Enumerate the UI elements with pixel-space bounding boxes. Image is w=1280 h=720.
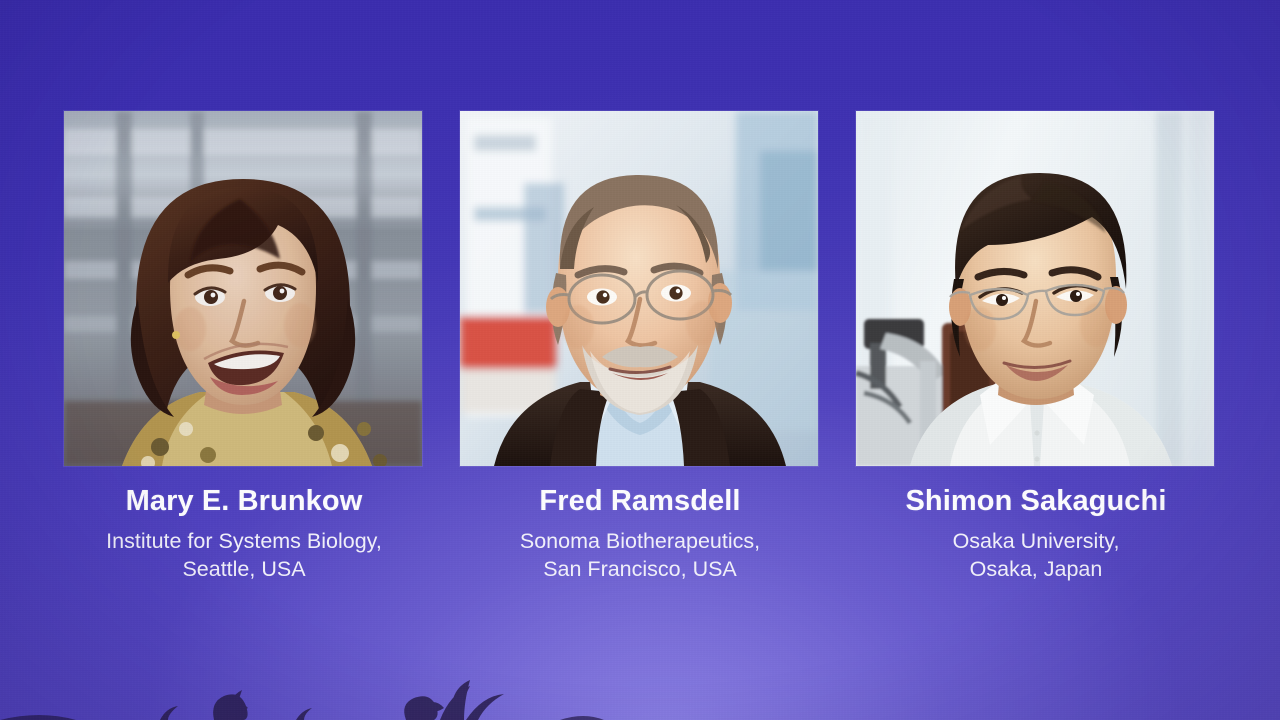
laureate-caption: Shimon Sakaguchi Osaka University, Osaka…: [856, 487, 1216, 583]
portrait-shimon-sakaguchi: [856, 111, 1214, 466]
laureate-affiliation: Institute for Systems Biology, Seattle, …: [64, 527, 424, 583]
foreground-plant-silhouettes: [0, 660, 1280, 720]
laureate-affiliation: Sonoma Biotherapeutics, San Francisco, U…: [460, 527, 820, 583]
portrait-mary-e-brunkow: [64, 111, 422, 466]
laureate-card: Mary E. Brunkow Institute for Systems Bi…: [64, 111, 424, 583]
laureate-card: Fred Ramsdell Sonoma Biotherapeutics, Sa…: [460, 111, 820, 583]
laureate-portrait-frame: [460, 111, 818, 466]
laureate-caption: Mary E. Brunkow Institute for Systems Bi…: [64, 487, 424, 583]
portrait-image-3: [856, 111, 1214, 466]
laureate-name: Shimon Sakaguchi: [856, 487, 1216, 516]
presentation-screen: Mary E. Brunkow Institute for Systems Bi…: [0, 0, 1280, 720]
laureate-name: Fred Ramsdell: [460, 487, 820, 516]
laureate-portrait-frame: [856, 111, 1214, 466]
laureate-name: Mary E. Brunkow: [64, 487, 424, 516]
laureate-affiliation: Osaka University, Osaka, Japan: [856, 527, 1216, 583]
portrait-fred-ramsdell: [460, 111, 818, 466]
laureate-caption: Fred Ramsdell Sonoma Biotherapeutics, Sa…: [460, 487, 820, 583]
laureates-row: Mary E. Brunkow Institute for Systems Bi…: [0, 111, 1280, 583]
laureate-portrait-frame: [64, 111, 422, 466]
portrait-image-1: [64, 111, 422, 466]
laureate-card: Shimon Sakaguchi Osaka University, Osaka…: [856, 111, 1216, 583]
portrait-image-2: [460, 111, 818, 466]
